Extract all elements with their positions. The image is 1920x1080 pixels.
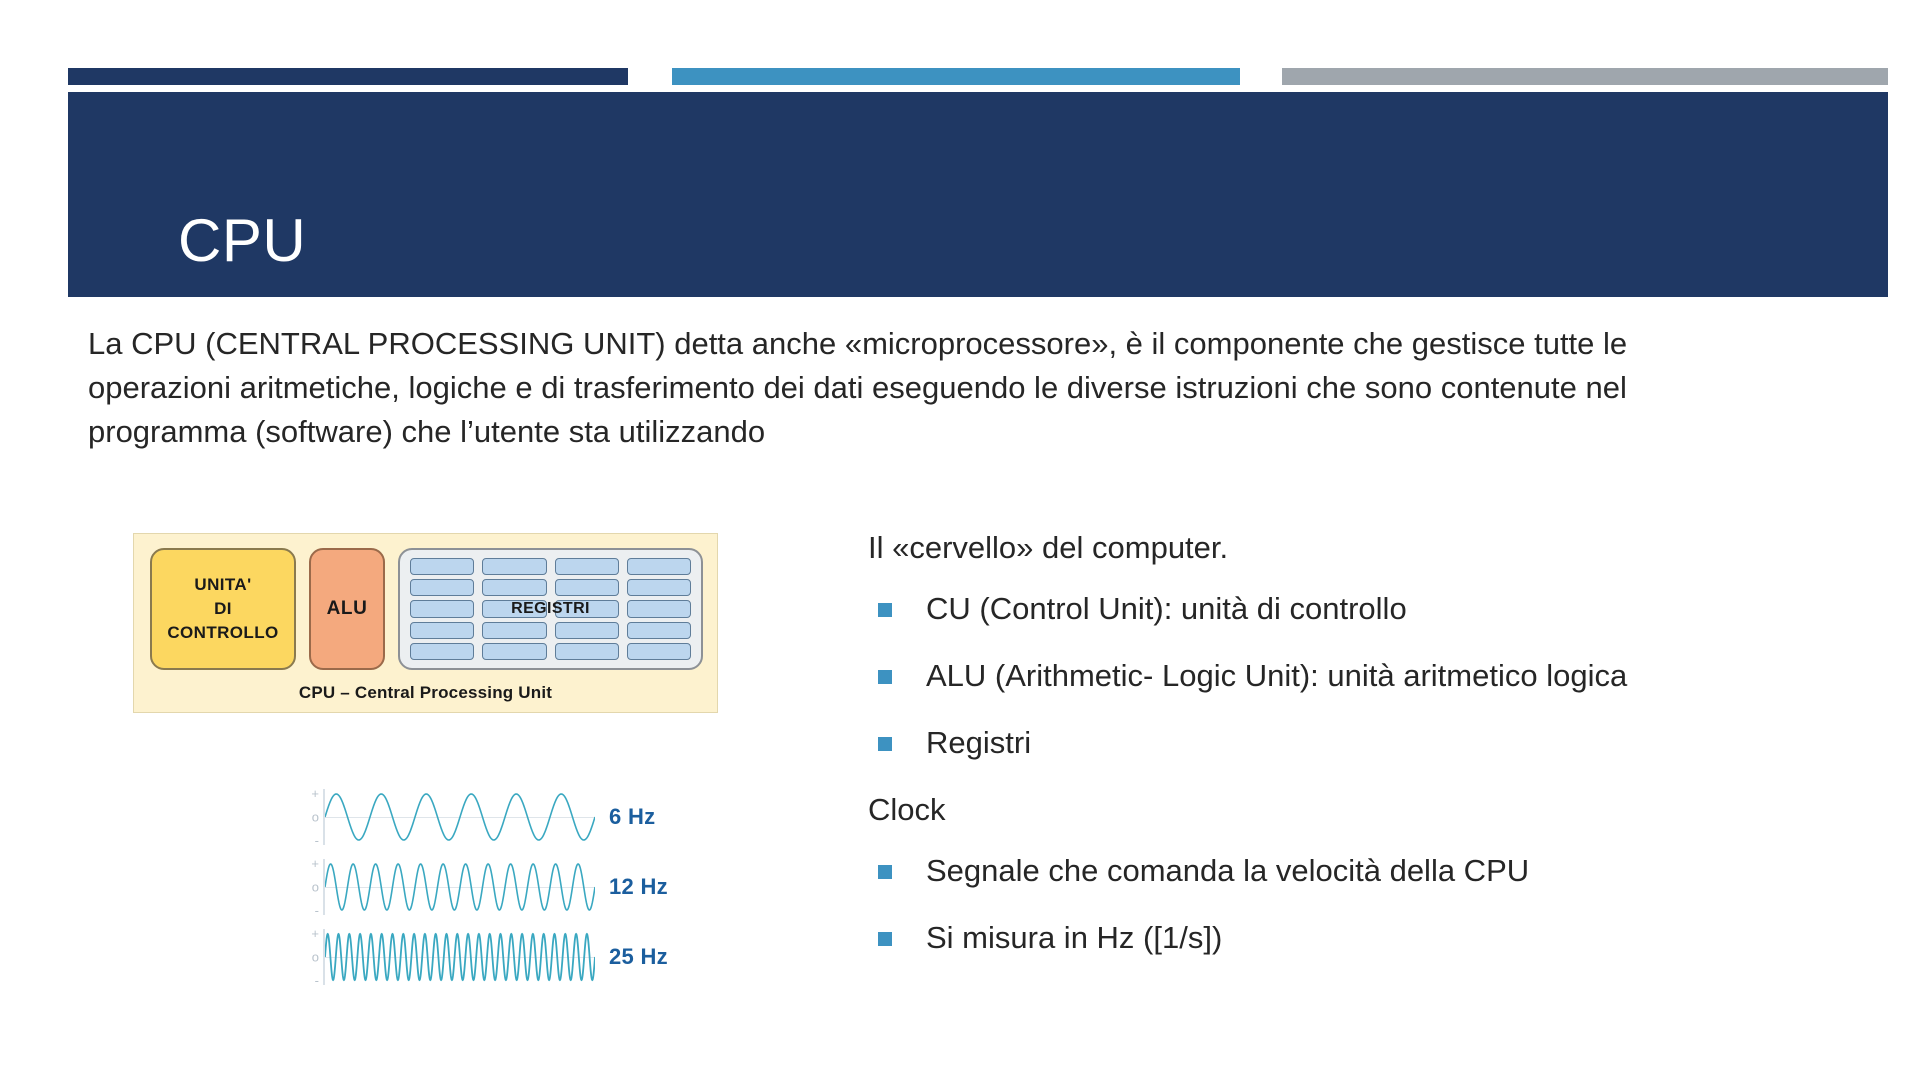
list-item-label: ALU (Arithmetic- Logic Unit): unità arit… (926, 656, 1627, 696)
register-cell (482, 643, 546, 660)
accent-bar-blue (672, 68, 1240, 85)
list-item-clock-unit: Si misura in Hz ([1/s]) (868, 918, 1878, 958)
sine-wave-icon (325, 855, 595, 919)
register-cell (410, 579, 474, 596)
axis-tick-plus: + (311, 927, 319, 940)
sine-wave-icon (325, 925, 595, 989)
list-item-cu: CU (Control Unit): unità di controllo (868, 589, 1878, 629)
right-content-column: Il «cervello» del computer. CU (Control … (868, 528, 1878, 985)
intro-paragraph: La CPU (CENTRAL PROCESSING UNIT) detta a… (88, 322, 1888, 454)
waveform-row-12hz: + o - 12 Hz (285, 852, 705, 922)
register-cell (627, 622, 691, 639)
cpu-diagram-caption: CPU – Central Processing Unit (134, 683, 717, 703)
subheading-clock: Clock (868, 790, 1878, 830)
bullet-square-icon (878, 670, 892, 684)
waveform-label-6hz: 6 Hz (609, 804, 655, 830)
axis-tick-plus: + (311, 787, 319, 800)
bullet-square-icon (878, 737, 892, 751)
waveform-label-12hz: 12 Hz (609, 874, 668, 900)
waveform-row-25hz: + o - 25 Hz (285, 922, 705, 992)
control-unit-line-3: CONTROLLO (167, 623, 278, 642)
title-band: CPU (68, 92, 1888, 297)
list-item-alu: ALU (Arithmetic- Logic Unit): unità arit… (868, 656, 1878, 696)
waveform-axis: + o - (285, 855, 325, 919)
bullet-square-icon (878, 865, 892, 879)
axis-tick-minus: - (315, 834, 319, 847)
waveform-plot (325, 855, 595, 919)
list-item-label: Registri (926, 723, 1031, 763)
control-unit-line-1: UNITA' (194, 575, 251, 594)
control-unit-block: UNITA' DI CONTROLLO (150, 548, 296, 670)
control-unit-line-2: DI (214, 599, 232, 618)
registers-label: REGISTRI (400, 600, 701, 618)
intro-line-1: La CPU (CENTRAL PROCESSING UNIT) detta a… (88, 322, 1888, 366)
cpu-diagram-blocks: UNITA' DI CONTROLLO ALU (150, 548, 703, 670)
register-cell (482, 558, 546, 575)
bullet-square-icon (878, 932, 892, 946)
register-cell (410, 622, 474, 639)
registers-block: REGISTRI (398, 548, 703, 670)
list-item-registri: Registri (868, 723, 1878, 763)
axis-tick-minus: - (315, 904, 319, 917)
register-cell (555, 643, 619, 660)
register-cell (627, 579, 691, 596)
waveform-axis: + o - (285, 925, 325, 989)
bullet-square-icon (878, 603, 892, 617)
waveform-row-6hz: + o - 6 Hz (285, 782, 705, 852)
register-cell (627, 558, 691, 575)
register-cell (410, 558, 474, 575)
register-cell (555, 579, 619, 596)
list-item-label: CU (Control Unit): unità di controllo (926, 589, 1407, 629)
register-cell (555, 558, 619, 575)
accent-bar-gray (1282, 68, 1888, 85)
list-item-clock-signal: Segnale che comanda la velocità della CP… (868, 851, 1878, 891)
accent-bar-row (0, 68, 1920, 85)
waveform-plot (325, 785, 595, 849)
alu-label: ALU (327, 598, 368, 620)
axis-tick-zero: o (312, 951, 319, 964)
register-cell (482, 622, 546, 639)
waveform-label-25hz: 25 Hz (609, 944, 668, 970)
axis-tick-zero: o (312, 881, 319, 894)
intro-line-2: operazioni aritmetiche, logiche e di tra… (88, 366, 1888, 410)
axis-tick-plus: + (311, 857, 319, 870)
register-cell (555, 622, 619, 639)
cpu-diagram-figure: UNITA' DI CONTROLLO ALU (133, 533, 718, 713)
list-item-label: Si misura in Hz ([1/s]) (926, 918, 1222, 958)
register-cell (627, 643, 691, 660)
waveform-plot (325, 925, 595, 989)
axis-tick-minus: - (315, 974, 319, 987)
sine-wave-icon (325, 785, 595, 849)
subheading-brain: Il «cervello» del computer. (868, 528, 1878, 568)
register-cell (410, 643, 474, 660)
waveform-axis: + o - (285, 785, 325, 849)
slide: CPU La CPU (CENTRAL PROCESSING UNIT) det… (0, 0, 1920, 1080)
page-title: CPU (178, 211, 306, 271)
list-item-label: Segnale che comanda la velocità della CP… (926, 851, 1529, 891)
axis-tick-zero: o (312, 811, 319, 824)
accent-bar-navy (68, 68, 628, 85)
intro-line-3: programma (software) che l’utente sta ut… (88, 410, 1888, 454)
alu-block: ALU (309, 548, 385, 670)
clock-waveform-chart: + o - 6 Hz + o - (285, 782, 705, 997)
register-cell (482, 579, 546, 596)
